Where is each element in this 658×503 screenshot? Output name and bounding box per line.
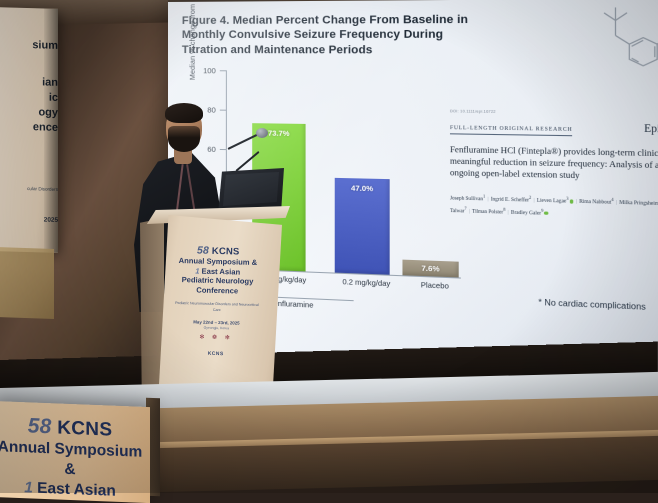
- podium-sign-ordinal: 1: [195, 266, 199, 275]
- orcid-icon: [544, 211, 548, 215]
- laptop-screen: [223, 172, 279, 206]
- author-separator: |: [531, 199, 537, 204]
- bar-value-label-3: 7.6%: [402, 263, 458, 275]
- foreground-banner-line1: Annual Symposium &: [0, 437, 144, 483]
- slide-footnote: * No cardiac complications: [538, 298, 646, 312]
- presenter-beard: [168, 126, 200, 152]
- podium-sign: 58 KCNS Annual Symposium & 1 East Asian …: [173, 244, 262, 358]
- article-author-list: Joseph Sullivan1|Ingrid E. Scheffer2|Lie…: [450, 192, 658, 223]
- foreground-banner: 58 KCNS Annual Symposium & 1 East Asian: [0, 401, 150, 503]
- article-author: Rima Nabbout4: [579, 200, 613, 206]
- bar-value-label-2: 47.0%: [335, 183, 390, 194]
- podium-sign-number: 58: [197, 244, 209, 256]
- fenfluramine-chemical-structure-icon: [588, 3, 658, 86]
- podium-sign-logo: KCNS: [173, 350, 259, 358]
- article-author: Milka Pringsheim5,6: [619, 201, 658, 208]
- background-decor-panel: [0, 247, 54, 319]
- article-kicker: FULL-LENGTH ORIGINAL RESEARCH: [450, 125, 573, 136]
- x-axis-label-placebo: Placebo: [402, 279, 467, 291]
- scene-root: sium ian ic ogy ence cular Disorders 202…: [0, 0, 658, 493]
- bar-fenfluramine-02: 47.0%: [335, 178, 390, 275]
- x-axis-label-fenfluramine-02: 0.2 mg/kg/day: [335, 277, 398, 289]
- article-title: Fenfluramine HCl (Fintepla®) provides lo…: [450, 144, 658, 185]
- article-author: Tilman Polster8: [472, 209, 505, 215]
- article-author: Ingrid E. Scheffer2: [491, 198, 531, 204]
- bar-placebo: 7.6%: [402, 260, 458, 278]
- microphone-head-icon: [256, 128, 268, 138]
- article-author: Bradley Galer9: [511, 210, 548, 216]
- foreground-banner-line2-text: East Asian: [37, 480, 116, 500]
- slide-title: Figure 4. Median Percent Change From Bas…: [182, 12, 496, 58]
- podium-sign-decor-icons: ✻ ❁ ✻: [173, 333, 259, 342]
- banner-shadow: [44, 8, 58, 252]
- podium-sign-subtitle: Pediatric Neuromuscular Disorders and Ne…: [174, 301, 260, 314]
- foreground-banner-number: 58: [28, 414, 52, 438]
- podium-sign-org: KCNS: [212, 246, 240, 258]
- article-journal-name: Epilepsia: [644, 123, 658, 136]
- foreground-banner-org: KCNS: [57, 418, 112, 441]
- article-author: Joseph Sullivan1: [450, 196, 485, 202]
- y-tick-label-100: 100: [188, 66, 216, 75]
- background-banner: sium ian ic ogy ence cular Disorders 202…: [0, 7, 58, 253]
- article-doi: DOI: 10.1111/epi.16722: [450, 109, 658, 116]
- presenter-hair: [165, 103, 203, 123]
- foreground-banner-ordinal: 1: [24, 479, 33, 496]
- article-author: Lieven Lagae3: [537, 199, 574, 205]
- podium-sign-venue: Gyeongju, Korea: [173, 325, 259, 331]
- journal-article-panel: DOI: 10.1111/epi.16722 FULL-LENGTH ORIGI…: [450, 109, 658, 223]
- podium-sign-line2-text: East Asian: [202, 266, 241, 276]
